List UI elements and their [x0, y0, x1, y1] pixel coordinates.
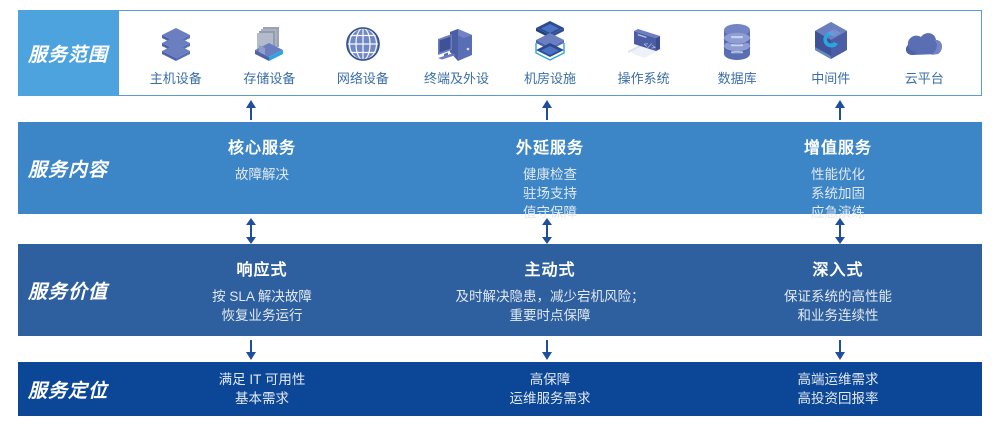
scope-item-data-center-facility[interactable]: 机房设施 [503, 19, 597, 87]
block-line: 故障解决 [235, 165, 289, 184]
scope-item-database[interactable]: 数据库 [690, 19, 784, 87]
scope-item-cloud-platform[interactable]: 云平台 [878, 19, 972, 87]
row-label-service-content: 服务内容 [18, 122, 118, 214]
row-label-service-value: 服务价值 [18, 244, 118, 336]
scope-item-label: 存储设备 [243, 68, 295, 87]
globe-network-icon [343, 23, 383, 63]
block-line: 和业务连续性 [798, 306, 879, 325]
block-line: 保证系统的高性能 [784, 287, 892, 306]
block-line: 高端运维需求 [798, 370, 879, 389]
scope-item-storage-equipment[interactable]: 存储设备 [223, 19, 317, 87]
row-label-service-scope: 服务范围 [18, 10, 118, 96]
block-line: 驻场支持 [523, 184, 577, 203]
service-value-blocks: 响应式 按 SLA 解决故障 恢复业务运行 主动式 及时解决隐患，减少宕机风险；… [118, 244, 982, 336]
block-line: 重要时点保障 [510, 306, 591, 325]
scope-item-label: 操作系统 [618, 68, 670, 87]
data-center-facility-icon [528, 23, 572, 63]
connector-value-to-positioning-center [540, 340, 554, 360]
block-line: 系统加固 [811, 184, 865, 203]
block-line: 高投资回报率 [798, 389, 879, 408]
block-line: 运维服务需求 [510, 389, 591, 408]
service-framework-diagram: 服务范围 [0, 0, 1000, 424]
connector-content-to-value-right [833, 218, 847, 244]
content-block-extended-service[interactable]: 外延服务 健康检查 驻场支持 值守保障 [406, 122, 694, 222]
row-service-value: 服务价值 响应式 按 SLA 解决故障 恢复业务运行 主动式 及时解决隐患，减少… [0, 244, 1000, 336]
service-content-blocks: 核心服务 故障解决 外延服务 健康检查 驻场支持 值守保障 增值服务 性能优化 … [118, 122, 982, 214]
block-title: 核心服务 [228, 134, 296, 158]
scope-item-host-equipment[interactable]: 主机设备 [129, 19, 223, 87]
block-line: 高保障 [530, 370, 571, 389]
block-title: 主动式 [524, 256, 575, 280]
scope-item-middleware[interactable]: 中间件 [784, 19, 878, 87]
block-line: 性能优化 [811, 165, 865, 184]
server-stack-icon [156, 23, 196, 63]
positioning-block-basic[interactable]: 满足 IT 可用性 基本需求 [118, 370, 406, 408]
connector-scope-to-content-left [244, 100, 258, 120]
middleware-cube-icon [810, 23, 852, 63]
content-block-core-service[interactable]: 核心服务 故障解决 [118, 122, 406, 184]
connector-scope-to-content-center [540, 100, 554, 120]
block-line: 基本需求 [235, 389, 289, 408]
desktop-pc-icon [434, 23, 478, 63]
block-title: 增值服务 [804, 134, 872, 158]
value-block-responsive[interactable]: 响应式 按 SLA 解决故障 恢复业务运行 [118, 244, 406, 325]
row-service-scope: 服务范围 [0, 10, 1000, 96]
row-service-content: 服务内容 核心服务 故障解决 外延服务 健康检查 驻场支持 值守保障 增值服务 … [0, 122, 1000, 214]
scope-item-network-equipment[interactable]: 网络设备 [316, 19, 410, 87]
positioning-block-high-end[interactable]: 高端运维需求 高投资回报率 [694, 370, 982, 408]
cloud-icon [901, 23, 947, 63]
scope-item-label: 中间件 [811, 68, 850, 87]
block-title: 响应式 [236, 256, 287, 280]
service-scope-items: 主机设备 [118, 10, 982, 96]
row-service-positioning: 服务定位 满足 IT 可用性 基本需求 高保障 运维服务需求 高端运维需求 高投… [0, 362, 1000, 416]
connector-value-to-positioning-right [833, 340, 847, 360]
service-positioning-blocks: 满足 IT 可用性 基本需求 高保障 运维服务需求 高端运维需求 高投资回报率 [118, 362, 982, 416]
block-line: 按 SLA 解决故障 [212, 287, 312, 306]
block-line: 及时解决隐患，减少宕机风险； [456, 287, 645, 306]
scope-item-terminal-peripherals[interactable]: 终端及外设 [410, 19, 504, 87]
block-title: 深入式 [812, 256, 863, 280]
scope-item-operating-system[interactable]: </> 操作系统 [597, 19, 691, 87]
storage-array-icon [249, 23, 289, 63]
value-block-indepth[interactable]: 深入式 保证系统的高性能 和业务连续性 [694, 244, 982, 325]
connector-value-to-positioning-left [244, 340, 258, 360]
scope-item-label: 主机设备 [150, 68, 202, 87]
scope-item-label: 数据库 [718, 68, 757, 87]
row-label-service-positioning: 服务定位 [18, 362, 118, 416]
scope-item-label: 机房设施 [524, 68, 576, 87]
value-block-proactive[interactable]: 主动式 及时解决隐患，减少宕机风险； 重要时点保障 [406, 244, 694, 325]
content-block-value-added-service[interactable]: 增值服务 性能优化 系统加固 应急演练 [694, 122, 982, 222]
block-line: 恢复业务运行 [222, 306, 303, 325]
block-line: 健康检查 [523, 165, 577, 184]
block-title: 外延服务 [516, 134, 584, 158]
connector-scope-to-content-right [833, 100, 847, 120]
connector-content-to-value-left [244, 218, 258, 244]
block-line: 满足 IT 可用性 [219, 370, 306, 389]
scope-item-label: 终端及外设 [424, 68, 489, 87]
positioning-block-assurance[interactable]: 高保障 运维服务需求 [406, 370, 694, 408]
scope-item-label: 网络设备 [337, 68, 389, 87]
connector-content-to-value-center [540, 218, 554, 244]
laptop-os-icon: </> [622, 23, 666, 63]
scope-item-label: 云平台 [905, 68, 944, 87]
database-icon [717, 23, 757, 63]
